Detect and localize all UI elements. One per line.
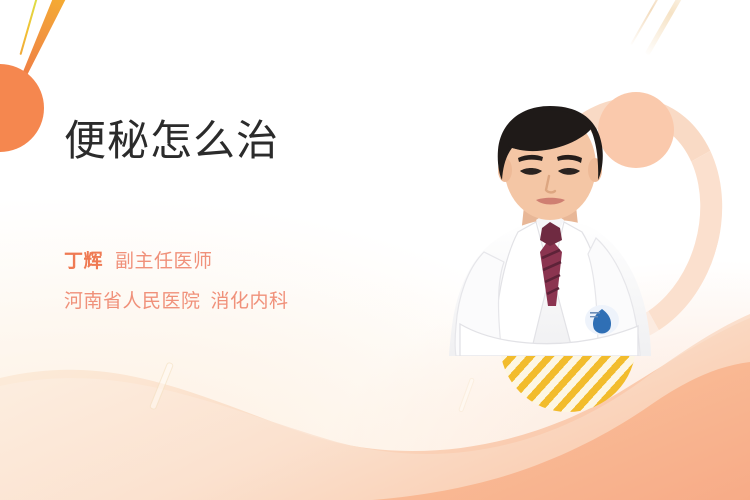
video-cover-card: 便秘怎么治 丁辉副主任医师 河南省人民医院消化内科 <box>0 0 750 500</box>
page-title: 便秘怎么治 <box>64 116 279 166</box>
doctor-portrait <box>432 88 668 356</box>
doctor-hospital: 河南省人民医院 <box>64 291 201 312</box>
doctor-title: 副主任医师 <box>115 251 213 272</box>
doctor-affiliation-line: 河南省人民医院消化内科 <box>64 288 289 317</box>
doctor-portrait-illustration <box>432 88 668 356</box>
doctor-credential-line: 丁辉副主任医师 <box>64 248 213 277</box>
doctor-department: 消化内科 <box>211 291 289 312</box>
doctor-name: 丁辉 <box>64 251 103 272</box>
